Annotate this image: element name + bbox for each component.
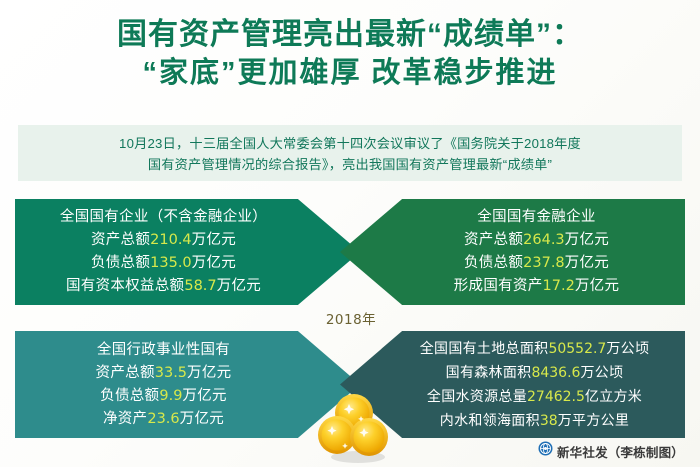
panel-row: 净资产23.6万亿元: [103, 408, 224, 431]
panel-heading: 全国国有企业（不含金融企业）: [60, 206, 267, 229]
row-label: 资产总额: [464, 232, 523, 248]
row-value: 9.9: [159, 388, 182, 404]
row-label: 全国国有土地总面积: [420, 340, 549, 356]
panel-row: 内水和领海面积38万平方公里: [440, 409, 629, 433]
footer-credit: 新华社发（李栋制图）: [538, 441, 684, 461]
row-label: 内水和领海面积: [440, 412, 540, 428]
title-line-2: “家底”更加雄厚 改革稳步推进: [0, 54, 700, 92]
row-value: 33.5: [155, 365, 187, 381]
row-unit: 亿立方米: [585, 388, 642, 404]
subtitle-line-2: 国有资产管理情况的综合报告》，亮出我国国有资产管理最新“成绩单”: [148, 154, 552, 175]
row-label: 国有森林面积: [446, 364, 532, 380]
gold-coins-icon: [316, 391, 392, 465]
panel-row: 国有资本权益总额58.7万亿元: [66, 275, 261, 298]
row-value: 50552.7: [548, 341, 606, 357]
row-value: 210.4: [150, 232, 192, 248]
panel-row: 负债总额135.0万亿元: [91, 252, 236, 275]
panel-row: 国有森林面积8436.6万公顷: [446, 361, 624, 385]
row-value: 23.6: [147, 411, 179, 427]
credit-text: 新华社发（李栋制图）: [557, 442, 684, 461]
subtitle-line-1: 10月23日，十三届全国人大常委会第十四次会议审议了《国务院关于2018年度: [119, 133, 581, 154]
row-label: 净资产: [103, 411, 147, 427]
row-unit: 万亿元: [180, 411, 224, 427]
row-unit: 万亿元: [565, 255, 609, 271]
row-label: 负债总额: [100, 388, 159, 404]
panel-row: 资产总额33.5万亿元: [96, 362, 232, 385]
row-value: 237.8: [523, 255, 565, 271]
row-unit: 万亿元: [192, 255, 236, 271]
row-label: 资产总额: [96, 365, 155, 381]
row-value: 38: [540, 413, 558, 429]
row-value: 27462.5: [527, 389, 585, 405]
panel-state-owned-financial-enterprises: 全国国有金融企业 资产总额264.3万亿元 负债总额237.8万亿元 形成国有资…: [340, 199, 685, 305]
row-unit: 万亿元: [217, 278, 261, 294]
xinhua-globe-icon: [538, 441, 553, 461]
panel-state-owned-enterprises: 全国国有企业（不含金融企业） 资产总额210.4万亿元 负债总额135.0万亿元…: [15, 199, 360, 305]
year-label: 2018年: [316, 308, 386, 328]
row-unit: 万亿元: [565, 232, 609, 248]
row-label: 形成国有资产: [454, 278, 543, 294]
row-unit: 万亿元: [187, 365, 231, 381]
row-value: 8436.6: [531, 365, 580, 381]
row-label: 国有资本权益总额: [66, 278, 184, 294]
panel-row: 形成国有资产17.2万亿元: [454, 275, 620, 298]
title-line-1: 国有资产管理亮出最新“成绩单”：: [0, 16, 700, 54]
panel-heading: 全国行政事业性国有: [97, 339, 230, 362]
row-value: 58.7: [184, 278, 216, 294]
row-value: 135.0: [150, 255, 192, 271]
row-label: 全国水资源总量: [427, 388, 527, 404]
row-unit: 万平方公里: [558, 412, 630, 428]
row-unit: 万公顷: [580, 364, 623, 380]
row-unit: 万亿元: [192, 232, 236, 248]
panel-row: 资产总额210.4万亿元: [91, 229, 236, 252]
panel-row: 负债总额237.8万亿元: [464, 252, 609, 275]
panel-row: 全国国有土地总面积50552.7万公顷: [420, 337, 650, 361]
row-label: 负债总额: [91, 255, 150, 271]
row-value: 264.3: [523, 232, 565, 248]
page-title: 国有资产管理亮出最新“成绩单”： “家底”更加雄厚 改革稳步推进: [0, 16, 700, 92]
row-label: 资产总额: [91, 232, 150, 248]
row-unit: 万公顷: [606, 340, 649, 356]
panel-row: 负债总额9.9万亿元: [100, 385, 227, 408]
row-value: 17.2: [543, 278, 575, 294]
panel-administrative-institutional-assets: 全国行政事业性国有 资产总额33.5万亿元 负债总额9.9万亿元 净资产23.6…: [15, 331, 360, 438]
panel-row: 全国水资源总量27462.5亿立方米: [427, 385, 642, 409]
row-unit: 万亿元: [182, 388, 226, 404]
row-label: 负债总额: [464, 255, 523, 271]
row-unit: 万亿元: [575, 278, 619, 294]
infographic-canvas: 国有资产管理亮出最新“成绩单”： “家底”更加雄厚 改革稳步推进 10月23日，…: [0, 0, 700, 467]
subtitle-band: 10月23日，十三届全国人大常委会第十四次会议审议了《国务院关于2018年度 国…: [18, 125, 682, 181]
panel-heading: 全国国有金融企业: [477, 206, 595, 229]
panel-row: 资产总额264.3万亿元: [464, 229, 609, 252]
